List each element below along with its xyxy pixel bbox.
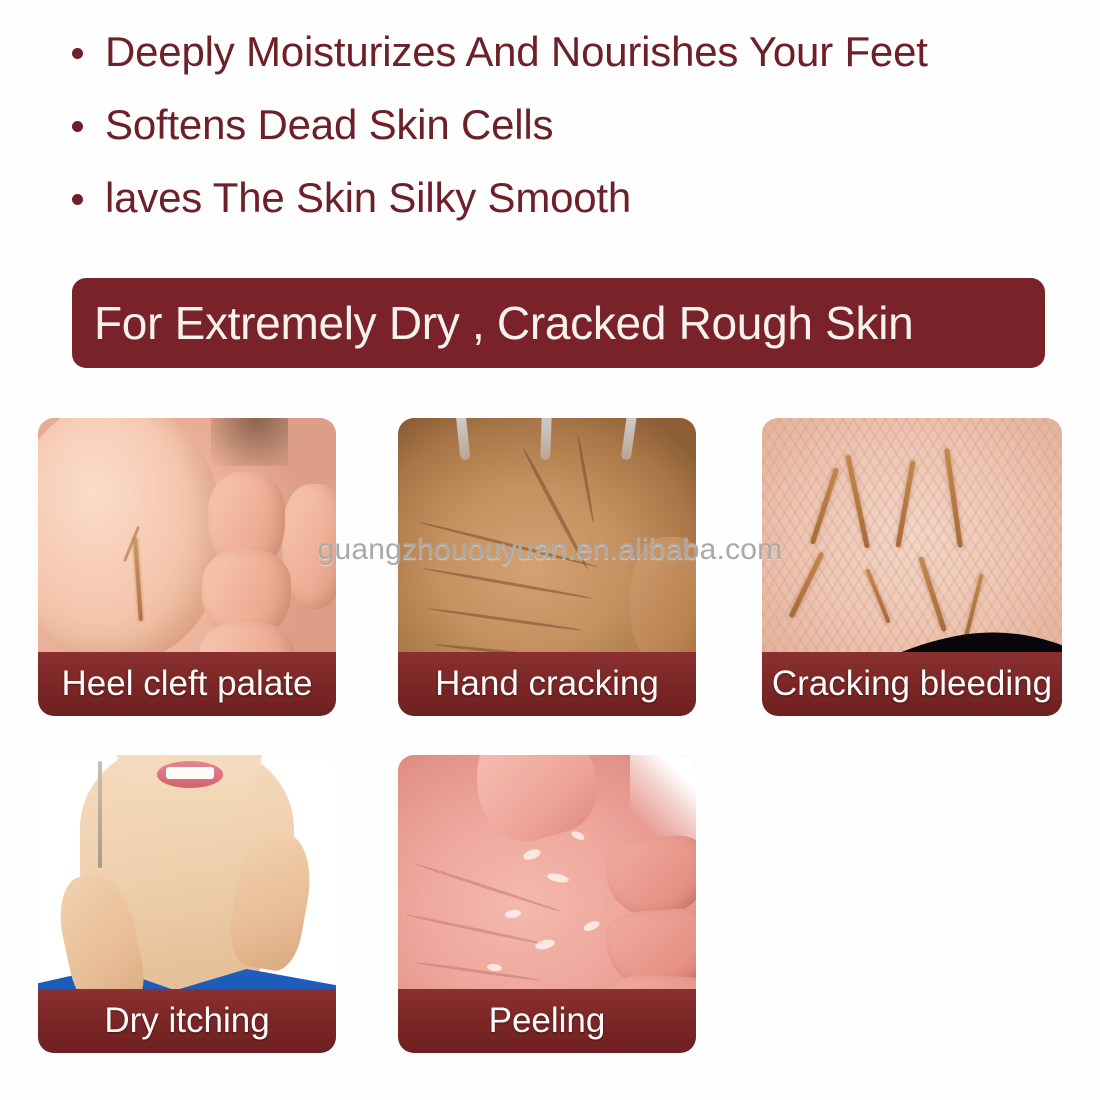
photo-deep-crack: [865, 568, 890, 623]
photo-finger-gap: [540, 418, 552, 460]
photo-earring: [98, 761, 102, 868]
photo-skin-flake: [582, 919, 601, 933]
card-caption-text: Hand cracking: [435, 664, 659, 704]
photo-palm-line: [428, 607, 582, 632]
benefit-label: laves The Skin Silky Smooth: [105, 172, 631, 224]
photo-palm-line: [423, 567, 594, 600]
card-caption-bar: Cracking bleeding: [762, 652, 1062, 716]
photo-deep-crack: [810, 467, 839, 545]
photo-deep-crack: [845, 454, 870, 548]
card-caption-bar: Hand cracking: [398, 652, 696, 716]
benefit-label: Deeply Moisturizes And Nourishes Your Fe…: [105, 26, 928, 78]
photo-palm-line: [416, 961, 540, 981]
symptom-card-heel-cleft-palate: Heel cleft palate: [38, 418, 336, 716]
photo-palm-line: [522, 448, 590, 571]
card-caption-text: Heel cleft palate: [62, 664, 313, 704]
photo-thumb: [461, 755, 610, 852]
photo-skin-flake: [570, 830, 586, 842]
benefit-label: Softens Dead Skin Cells: [105, 99, 553, 151]
photo-palm-line: [418, 521, 598, 569]
bullet-dot-icon: [72, 48, 83, 59]
card-caption-bar: Peeling: [398, 989, 696, 1053]
bullet-dot-icon: [72, 194, 83, 205]
photo-palm-line: [405, 913, 546, 946]
benefits-list: Deeply Moisturizes And Nourishes Your Fe…: [72, 26, 1072, 245]
photo-deep-crack: [944, 448, 963, 548]
benefit-item: Deeply Moisturizes And Nourishes Your Fe…: [72, 26, 1072, 99]
benefit-item: Softens Dead Skin Cells: [72, 99, 1072, 172]
photo-shadow-region: [211, 418, 288, 466]
bullet-dot-icon: [72, 121, 83, 132]
photo-skin-flake: [487, 963, 503, 972]
photo-palm-line: [576, 435, 594, 524]
symptom-card-peeling: Peeling: [398, 755, 696, 1053]
photo-deep-crack: [964, 573, 983, 636]
symptom-card-cracking-bleeding: Cracking bleeding: [762, 418, 1062, 716]
benefit-item: laves The Skin Silky Smooth: [72, 172, 1072, 245]
photo-skin-flake: [505, 909, 522, 919]
photo-deep-crack: [788, 552, 824, 619]
photo-palm-line: [413, 862, 561, 913]
card-caption-text: Peeling: [489, 1001, 606, 1041]
photo-finger-gap: [455, 418, 470, 460]
photo-skin-flake: [522, 848, 542, 863]
headline-banner: For Extremely Dry , Cracked Rough Skin: [72, 278, 1045, 368]
symptom-card-dry-itching: Dry itching: [38, 755, 336, 1053]
card-caption-bar: Heel cleft palate: [38, 652, 336, 716]
headline-banner-text: For Extremely Dry , Cracked Rough Skin: [72, 296, 913, 350]
card-caption-text: Cracking bleeding: [772, 664, 1052, 704]
photo-deep-crack: [895, 460, 915, 548]
photo-finger-gap: [621, 418, 638, 460]
photo-skin-flake: [534, 937, 556, 951]
symptom-card-hand-cracking: Hand cracking: [398, 418, 696, 716]
photo-teeth: [166, 767, 214, 779]
photo-deep-crack: [918, 556, 947, 632]
card-caption-bar: Dry itching: [38, 989, 336, 1053]
photo-skin-flake: [546, 872, 569, 884]
card-caption-text: Dry itching: [104, 1001, 269, 1041]
